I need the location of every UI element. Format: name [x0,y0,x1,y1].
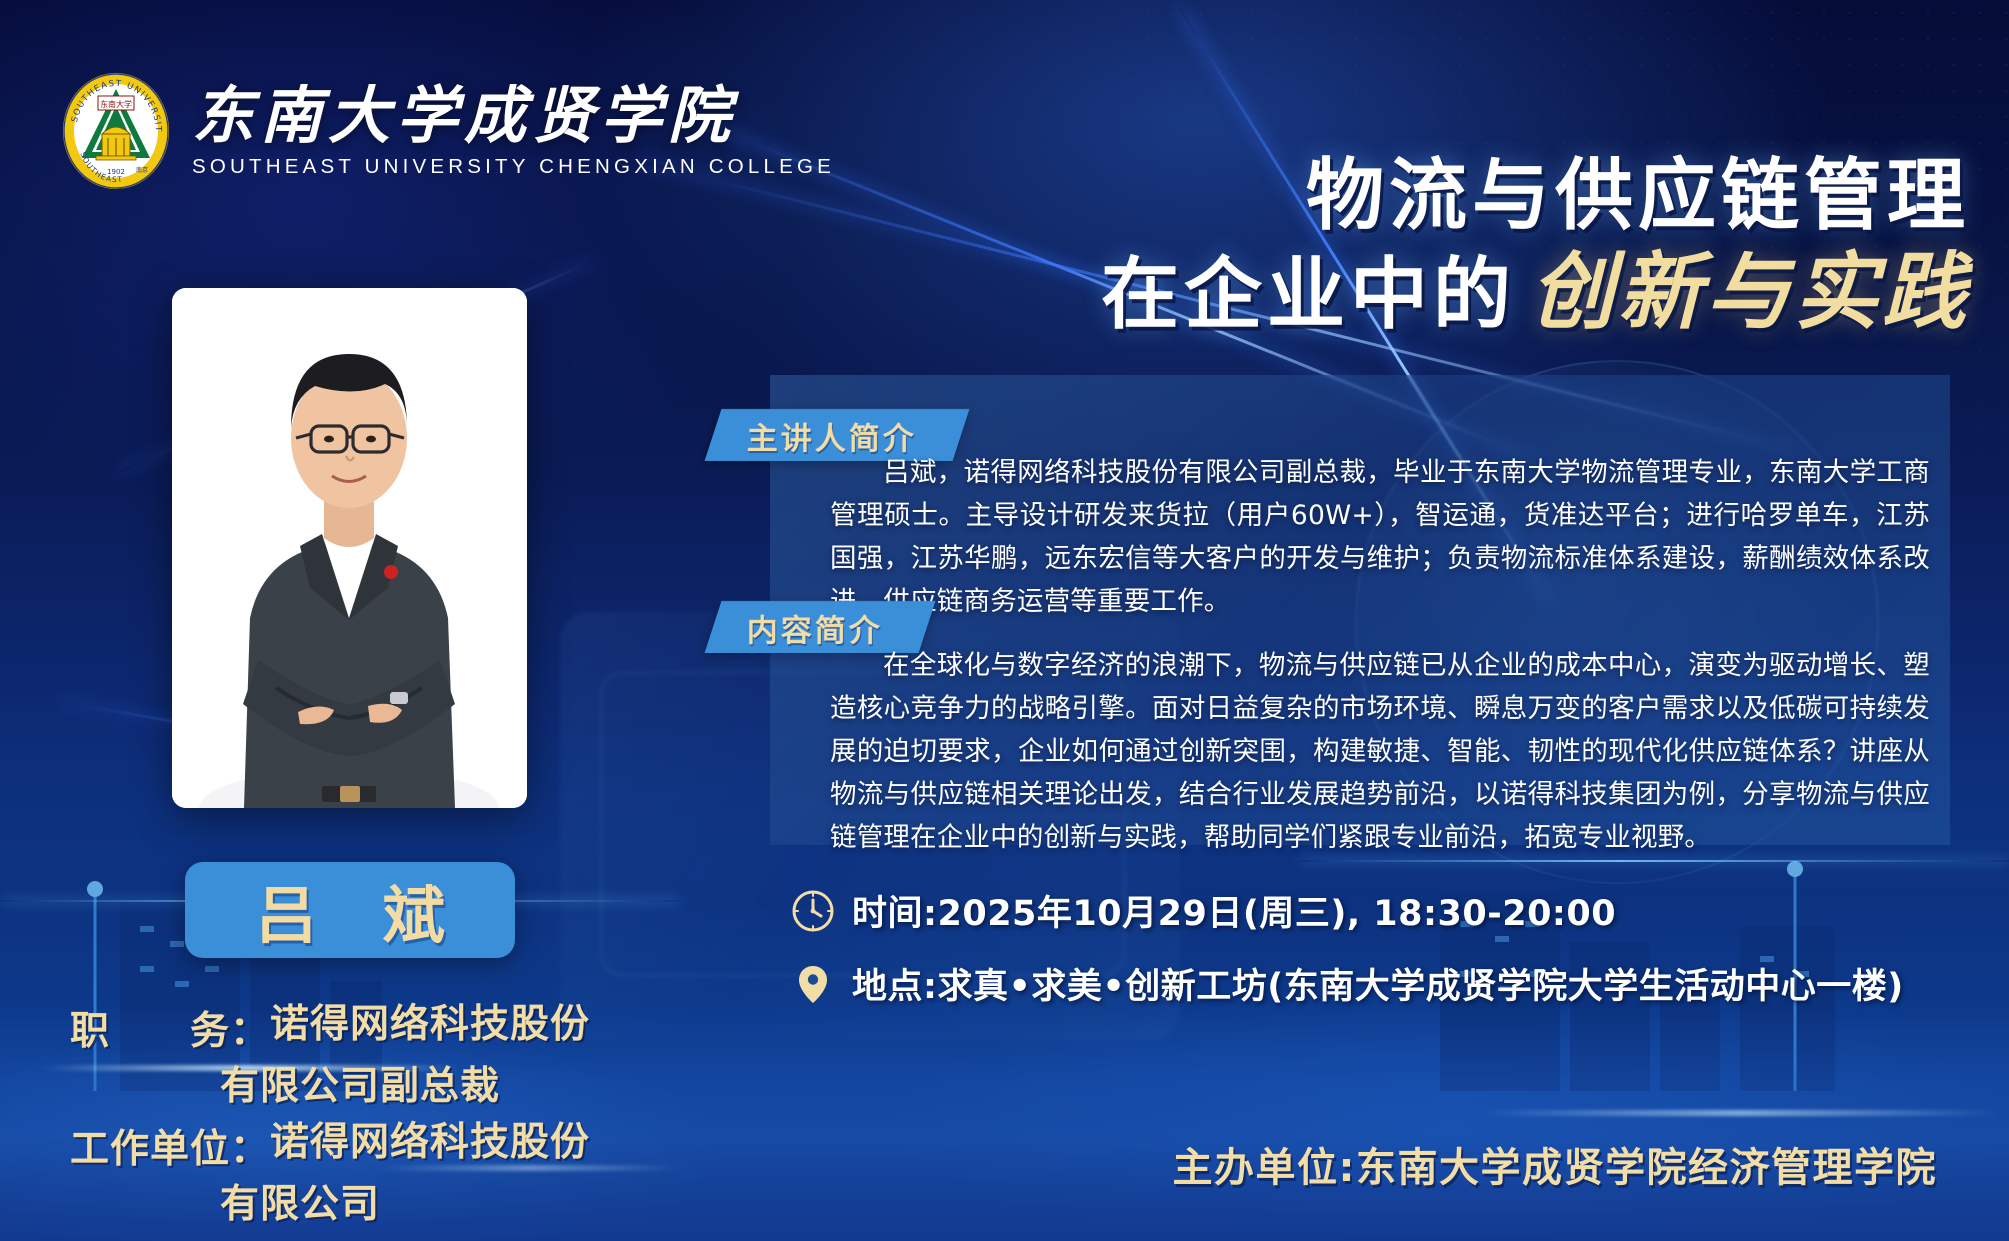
speaker-portrait [172,288,527,808]
work-unit-row: 工作单位： 诺得网络科技股份 [70,1118,690,1174]
title-line-2-white: 在企业中的 [1101,249,1516,341]
event-time-text: 时间:2025年10月29日(周三), 18:30-20:00 [852,885,1616,936]
glow-line [1300,860,2009,862]
speaker-portrait-image [172,288,527,808]
event-time-row: 时间:2025年10月29日(周三), 18:30-20:00 [790,885,1970,936]
svg-text:南京: 南京 [136,166,148,174]
location-pin-icon [790,961,836,1007]
university-name-cn: 东南大学成贤学院 [192,83,835,148]
svg-text:东南大学: 东南大学 [100,99,132,109]
speaker-name: 吕 斌 [233,865,467,955]
work-unit-value: 诺得网络科技股份 [270,1118,590,1168]
poster-title: 物流与供应链管理 在企业中的 创新与实践 [740,150,1970,341]
job-title-label: 职 务： [70,1000,270,1056]
organizer-text: 主办单位:东南大学成贤学院经济管理学院 [1173,1135,1938,1193]
speaker-bio-text: 吕斌，诺得网络科技股份有限公司副总裁，毕业于东南大学物流管理专业，东南大学工商管… [830,452,1930,624]
job-title-value: 诺得网络科技股份 [270,1000,590,1050]
university-name-en: SOUTHEAST UNIVERSITY CHENGXIAN COLLEGE [192,155,835,179]
lecture-poster: 东南大学 1902 南京 SOUTHEAST UNIVERSITY SOUTHE… [0,0,2009,1241]
job-title-row: 职 务： 诺得网络科技股份 [70,1000,690,1056]
light-streak [1480,1110,2000,1116]
job-title-row-cont: 有限公司副总裁 [70,1062,690,1112]
event-place-text: 地点:求真•求美•创新工坊(东南大学成贤学院大学生活动中心一楼) [852,958,1904,1009]
speaker-details: 职 务： 诺得网络科技股份 有限公司副总裁 工作单位： 诺得网络科技股份 有限公… [70,1000,690,1236]
title-line-1: 物流与供应链管理 [740,150,1970,242]
event-place-row: 地点:求真•求美•创新工坊(东南大学成贤学院大学生活动中心一楼) [790,958,1970,1009]
section-tag-speaker-label: 主讲人简介 [747,413,917,458]
event-meta: 时间:2025年10月29日(周三), 18:30-20:00 地点:求真•求美… [790,885,1970,1031]
work-unit-label: 工作单位： [70,1118,270,1174]
work-unit-value-2: 有限公司 [220,1180,380,1230]
title-line-2-gold: 创新与实践 [1530,242,1970,341]
work-unit-row-cont: 有限公司 [70,1180,690,1230]
clock-icon [790,888,836,934]
job-title-value-2: 有限公司副总裁 [220,1062,500,1112]
southeast-university-seal-icon: 东南大学 1902 南京 SOUTHEAST UNIVERSITY SOUTHE… [62,72,170,190]
section-tag-content-label: 内容简介 [747,605,883,650]
speaker-name-badge: 吕 斌 [185,862,515,958]
brand-logo-block: 东南大学 1902 南京 SOUTHEAST UNIVERSITY SOUTHE… [62,72,835,190]
content-summary-text: 在全球化与数字经济的浪潮下，物流与供应链已从企业的成本中心，演变为驱动增长、塑造… [830,645,1930,860]
